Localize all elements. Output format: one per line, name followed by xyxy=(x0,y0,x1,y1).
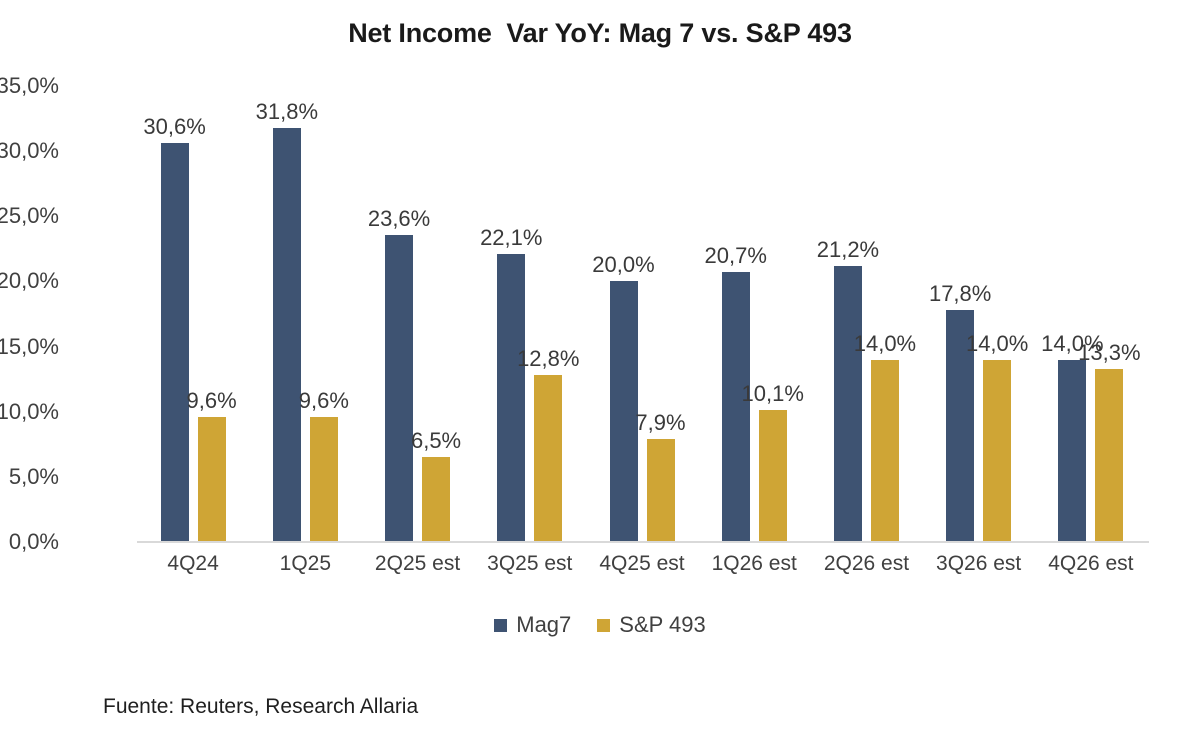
bar-sp493[interactable] xyxy=(759,410,787,542)
bar-sp493[interactable] xyxy=(310,417,338,542)
x-axis-tick-label: 3Q25 est xyxy=(487,552,572,576)
bar-value-label: 23,6% xyxy=(368,206,430,232)
source-note: Fuente: Reuters, Research Allaria xyxy=(103,695,418,719)
x-axis-tick-label: 4Q24 xyxy=(167,552,218,576)
y-axis-tick-label: 15,0% xyxy=(0,334,59,360)
bar-mag7[interactable] xyxy=(834,266,862,542)
y-axis-tick-label: 20,0% xyxy=(0,268,59,294)
bar-value-label: 7,9% xyxy=(635,410,685,436)
bar-sp493[interactable] xyxy=(647,439,675,542)
bar-value-label: 14,0% xyxy=(966,331,1028,357)
bar-value-label: 14,0% xyxy=(854,331,916,357)
x-axis-tick-label: 2Q25 est xyxy=(375,552,460,576)
bar-value-label: 30,6% xyxy=(143,114,205,140)
bar-value-label: 12,8% xyxy=(517,346,579,372)
y-axis-tick-label: 0,0% xyxy=(0,529,59,555)
chart-legend: Mag7S&P 493 xyxy=(0,612,1200,638)
bar-value-label: 31,8% xyxy=(256,99,318,125)
y-axis-tick-label: 25,0% xyxy=(0,203,59,229)
y-axis-tick-label: 5,0% xyxy=(0,464,59,490)
bar-sp493[interactable] xyxy=(422,457,450,542)
x-axis-tick-label: 2Q26 est xyxy=(824,552,909,576)
bar-mag7[interactable] xyxy=(1058,360,1086,542)
bar-mag7[interactable] xyxy=(273,128,301,542)
legend-item-mag7[interactable]: Mag7 xyxy=(494,612,571,638)
bar-mag7[interactable] xyxy=(610,281,638,542)
bar-value-label: 20,0% xyxy=(592,252,654,278)
x-axis-tick-label: 4Q26 est xyxy=(1048,552,1133,576)
chart-title: Net Income Var YoY: Mag 7 vs. S&P 493 xyxy=(0,18,1200,49)
bar-value-label: 6,5% xyxy=(411,428,461,454)
x-axis-tick-label: 1Q25 xyxy=(280,552,331,576)
bar-value-label: 10,1% xyxy=(742,381,804,407)
bar-value-label: 13,3% xyxy=(1078,340,1140,366)
x-axis: 4Q241Q252Q25 est3Q25 est4Q25 est1Q26 est… xyxy=(137,552,1147,586)
bar-mag7[interactable] xyxy=(385,235,413,542)
bar-value-label: 22,1% xyxy=(480,225,542,251)
bar-mag7[interactable] xyxy=(161,143,189,542)
bar-value-label: 9,6% xyxy=(187,388,237,414)
bar-value-label: 20,7% xyxy=(705,243,767,269)
x-axis-tick-label: 3Q26 est xyxy=(936,552,1021,576)
legend-label: Mag7 xyxy=(516,612,571,638)
bar-value-label: 21,2% xyxy=(817,237,879,263)
y-axis-tick-label: 10,0% xyxy=(0,399,59,425)
x-axis-tick-label: 1Q26 est xyxy=(712,552,797,576)
bar-sp493[interactable] xyxy=(1095,369,1123,542)
y-axis-tick-label: 35,0% xyxy=(0,73,59,99)
legend-item-sp493[interactable]: S&P 493 xyxy=(597,612,705,638)
bar-value-label: 17,8% xyxy=(929,281,991,307)
legend-label: S&P 493 xyxy=(619,612,705,638)
bar-sp493[interactable] xyxy=(534,375,562,542)
bar-sp493[interactable] xyxy=(198,417,226,542)
bar-sp493[interactable] xyxy=(871,360,899,542)
bar-value-label: 9,6% xyxy=(299,388,349,414)
legend-swatch-icon xyxy=(494,619,507,632)
legend-swatch-icon xyxy=(597,619,610,632)
bar-sp493[interactable] xyxy=(983,360,1011,542)
plot-area: 30,6%9,6%31,8%9,6%23,6%6,5%22,1%12,8%20,… xyxy=(137,86,1147,542)
y-axis-tick-label: 30,0% xyxy=(0,138,59,164)
x-axis-baseline xyxy=(137,541,1149,543)
x-axis-tick-label: 4Q25 est xyxy=(599,552,684,576)
chart-container: Net Income Var YoY: Mag 7 vs. S&P 493 35… xyxy=(0,0,1200,739)
bar-mag7[interactable] xyxy=(497,254,525,542)
